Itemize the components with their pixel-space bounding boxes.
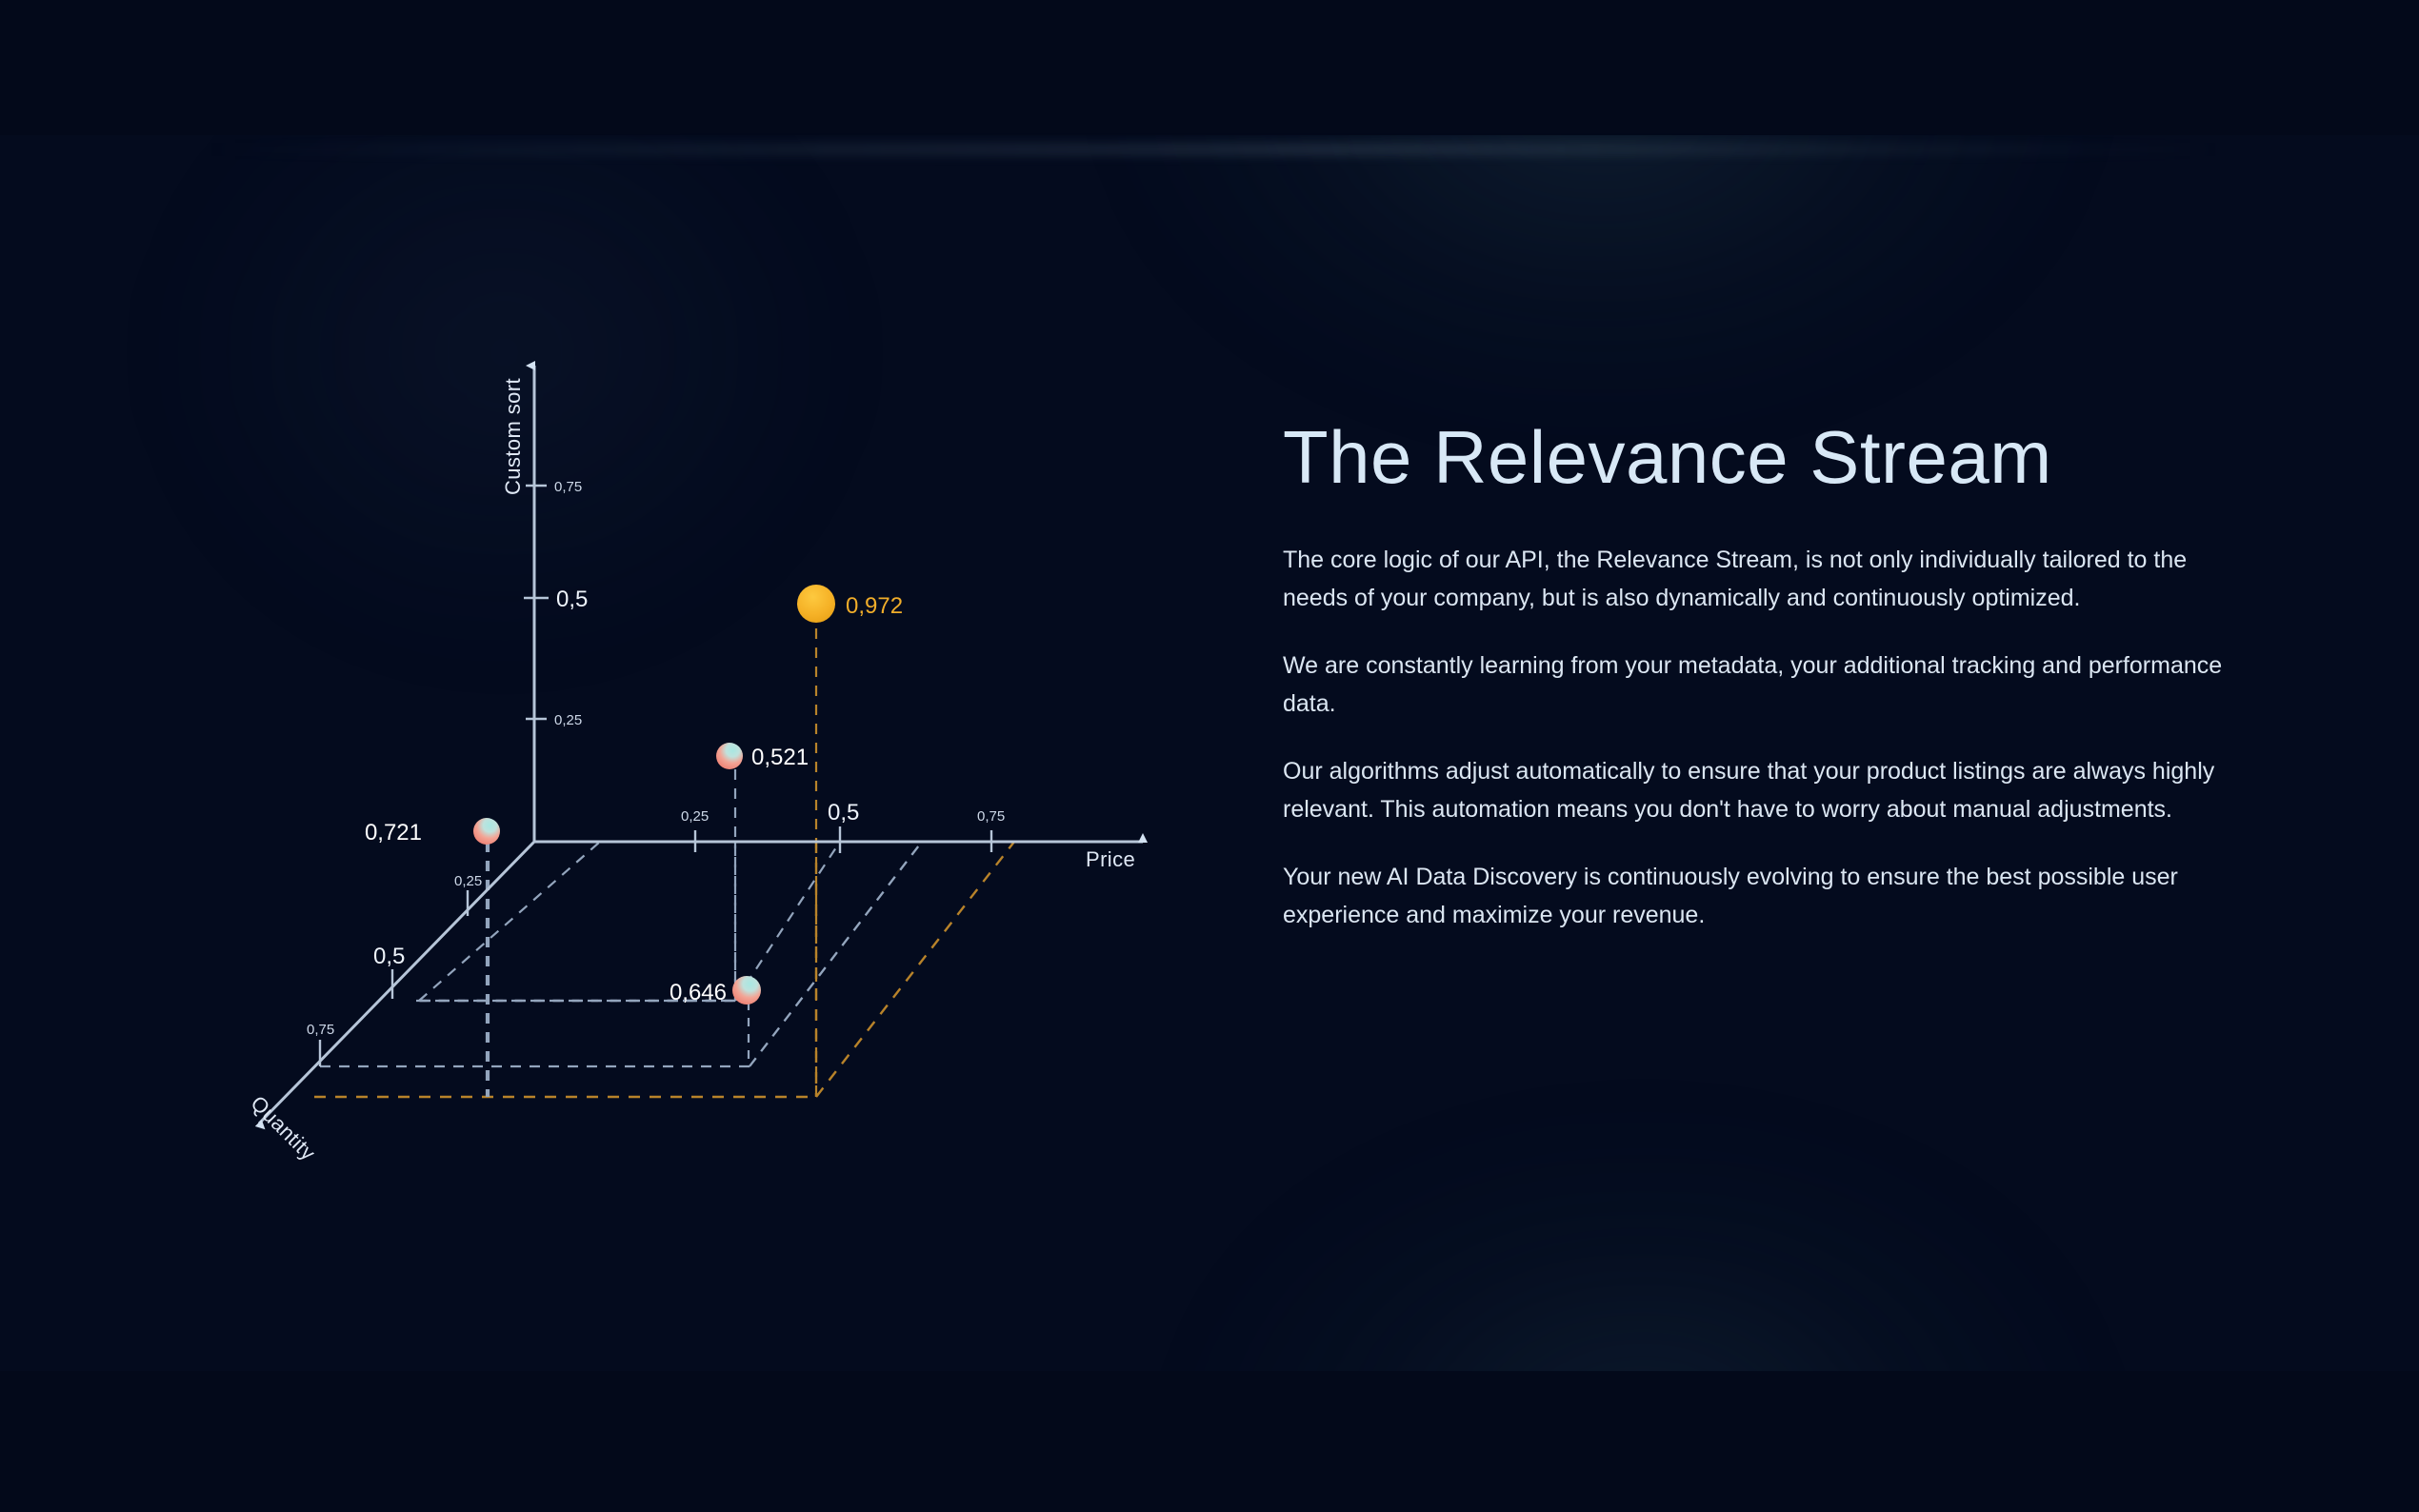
background-glow-top-right [1124,0,2076,419]
axis-y-ticks [524,486,549,719]
tick-label-y-05: 0,5 [556,587,588,612]
tick-label-x-05: 0,5 [828,800,859,826]
tick-label-z-05: 0,5 [373,944,405,969]
body-paragraph-2: We are constantly learning from your met… [1283,647,2235,724]
page-title: The Relevance Stream [1283,419,2245,497]
grid-diag-right [750,842,922,1066]
data-point-0972[interactable] [797,585,835,623]
chart-canvas: 0,75 0,5 0,25 0,25 0,5 0,75 0,25 0,5 0,7… [0,0,1229,1512]
data-point-label-0521: 0,521 [751,745,809,770]
tick-label-z-025: 0,25 [454,873,482,889]
tick-label-y-025: 0,25 [554,712,582,728]
body-paragraph-4: Your new AI Data Discovery is continuous… [1283,858,2235,935]
axis-z-line [259,842,534,1124]
axis-x-ticks [695,826,991,853]
data-point-0646[interactable] [732,976,761,1005]
point-droplines [487,628,816,1097]
axis-label-custom-sort: Custom sort [501,378,525,495]
page-root: 0,75 0,5 0,25 0,25 0,5 0,75 0,25 0,5 0,7… [0,0,2419,1512]
floor-grid-amber [314,842,1014,1097]
data-point-0521[interactable] [716,743,743,769]
background-glow-bottom-right [1190,1124,2095,1512]
body-paragraph-1: The core logic of our API, the Relevance… [1283,541,2235,618]
tick-label-x-025: 0,25 [681,808,709,825]
axis-label-price: Price [1086,847,1135,871]
relevance-stream-copy: The Relevance Stream The core logic of o… [1283,419,2245,935]
tick-label-x-075: 0,75 [977,808,1005,825]
body-paragraph-3: Our algorithms adjust automatically to e… [1283,752,2235,829]
tick-label-z-075: 0,75 [307,1022,334,1038]
amber-floor-right-edge [816,842,1014,1097]
relevance-stream-chart: 0,75 0,5 0,25 0,25 0,5 0,75 0,25 0,5 0,7… [0,0,1229,1512]
data-point-label-0646: 0,646 [670,980,727,1005]
data-point-0721[interactable] [473,818,500,845]
data-point-label-0972: 0,972 [846,593,903,619]
data-point-label-0721: 0,721 [365,820,422,846]
axis-label-quantity: Quantity [246,1091,320,1165]
tick-label-y-075: 0,75 [554,479,582,495]
